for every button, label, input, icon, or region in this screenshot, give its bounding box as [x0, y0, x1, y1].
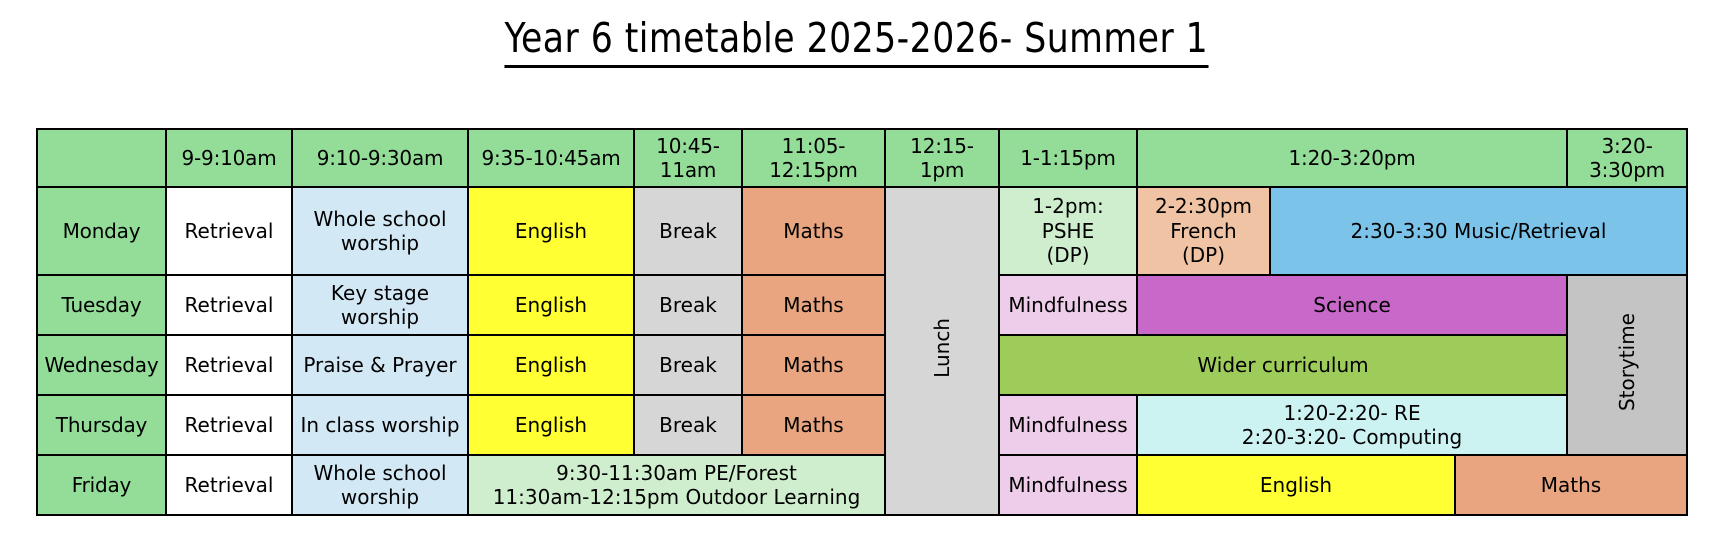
cell-monday-maths: Maths: [742, 187, 885, 275]
table-row-tuesday: Tuesday Retrieval Key stage worship Engl…: [37, 275, 1687, 335]
cell-tuesday-retrieval: Retrieval: [166, 275, 292, 335]
cell-tuesday-mindfulness: Mindfulness: [999, 275, 1137, 335]
cell-wednesday-retrieval: Retrieval: [166, 335, 292, 395]
worship-line-1: Whole school: [313, 207, 446, 231]
cell-tuesday-science: Science: [1137, 275, 1567, 335]
cell-monday-retrieval: Retrieval: [166, 187, 292, 275]
key-stage-worship-line-2: worship: [341, 305, 419, 329]
pe-forest-line: 9:30-11:30am PE/Forest: [556, 461, 797, 485]
re-line: 1:20-2:20- RE: [1283, 401, 1420, 425]
cell-thursday-retrieval: Retrieval: [166, 395, 292, 455]
cell-monday-break: Break: [634, 187, 742, 275]
header-col-1-115pm: 1-1:15pm: [999, 129, 1137, 187]
timetable-container: 9-9:10am 9:10-9:30am 9:35-10:45am 10:45-…: [36, 128, 1678, 516]
cell-lunch: Lunch: [885, 187, 999, 515]
page-title-container: Year 6 timetable 2025-2026- Summer 1: [0, 14, 1712, 68]
cell-wednesday-worship: Praise & Prayer: [292, 335, 468, 395]
pshe-line-1: 1-2pm: PSHE: [1032, 194, 1104, 242]
header-col-1105-1215pm: 11:05-12:15pm: [742, 129, 885, 187]
storytime-label: Storytime: [1615, 313, 1639, 411]
table-row-monday: Monday Retrieval Whole school worship En…: [37, 187, 1687, 275]
header-col-935-1045am: 9:35-10:45am: [468, 129, 634, 187]
cell-thursday-english: English: [468, 395, 634, 455]
friday-worship-line-2: worship: [341, 485, 419, 509]
cell-wednesday-break: Break: [634, 335, 742, 395]
header-col-1215-1pm: 12:15-1pm: [885, 129, 999, 187]
header-col-120-320pm: 1:20-3:20pm: [1137, 129, 1567, 187]
french-line-3: (DP): [1182, 243, 1225, 267]
header-col-1045-11am: 10:45-11am: [634, 129, 742, 187]
cell-friday-english: English: [1137, 455, 1455, 515]
header-col-910-930am: 9:10-9:30am: [292, 129, 468, 187]
header-col-9-910am: 9-9:10am: [166, 129, 292, 187]
header-corner: [37, 129, 166, 187]
cell-thursday-worship: In class worship: [292, 395, 468, 455]
cell-thursday-mindfulness: Mindfulness: [999, 395, 1137, 455]
outdoor-learning-line: 11:30am-12:15pm Outdoor Learning: [493, 485, 861, 509]
cell-wednesday-maths: Maths: [742, 335, 885, 395]
header-col-320-330pm: 3:20-3:30pm: [1567, 129, 1687, 187]
cell-monday-french: 2-2:30pm French (DP): [1137, 187, 1270, 275]
cell-tuesday-worship: Key stage worship: [292, 275, 468, 335]
cell-monday-worship: Whole school worship: [292, 187, 468, 275]
worship-line-2: worship: [341, 231, 419, 255]
timetable-page: Year 6 timetable 2025-2026- Summer 1: [0, 0, 1712, 554]
cell-storytime: Storytime: [1567, 275, 1687, 455]
friday-worship-line-1: Whole school: [313, 461, 446, 485]
cell-friday-pe-forest-outdoor: 9:30-11:30am PE/Forest 11:30am-12:15pm O…: [468, 455, 885, 515]
timetable: 9-9:10am 9:10-9:30am 9:35-10:45am 10:45-…: [36, 128, 1688, 516]
cell-thursday-break: Break: [634, 395, 742, 455]
lunch-label: Lunch: [930, 318, 954, 378]
french-line-2: French: [1170, 219, 1236, 243]
day-label-monday: Monday: [37, 187, 166, 275]
table-row-friday: Friday Retrieval Whole school worship 9:…: [37, 455, 1687, 515]
day-label-thursday: Thursday: [37, 395, 166, 455]
cell-monday-pshe: 1-2pm: PSHE (DP): [999, 187, 1137, 275]
page-title: Year 6 timetable 2025-2026- Summer 1: [504, 14, 1208, 68]
french-line-1: 2-2:30pm: [1155, 194, 1252, 218]
computing-line: 2:20-3:20- Computing: [1242, 425, 1462, 449]
cell-thursday-maths: Maths: [742, 395, 885, 455]
cell-tuesday-maths: Maths: [742, 275, 885, 335]
key-stage-worship-line-1: Key stage: [331, 281, 429, 305]
day-label-wednesday: Wednesday: [37, 335, 166, 395]
table-row-thursday: Thursday Retrieval In class worship Engl…: [37, 395, 1687, 455]
cell-monday-music-retrieval: 2:30-3:30 Music/Retrieval: [1270, 187, 1687, 275]
table-row-wednesday: Wednesday Retrieval Praise & Prayer Engl…: [37, 335, 1687, 395]
day-label-tuesday: Tuesday: [37, 275, 166, 335]
cell-tuesday-break: Break: [634, 275, 742, 335]
cell-tuesday-english: English: [468, 275, 634, 335]
cell-thursday-re-computing: 1:20-2:20- RE 2:20-3:20- Computing: [1137, 395, 1567, 455]
cell-friday-retrieval: Retrieval: [166, 455, 292, 515]
cell-friday-worship: Whole school worship: [292, 455, 468, 515]
cell-wednesday-english: English: [468, 335, 634, 395]
cell-friday-maths: Maths: [1455, 455, 1687, 515]
pshe-line-2: (DP): [1046, 243, 1089, 267]
timetable-body: Monday Retrieval Whole school worship En…: [37, 187, 1687, 515]
cell-monday-english: English: [468, 187, 634, 275]
timetable-header-row: 9-9:10am 9:10-9:30am 9:35-10:45am 10:45-…: [37, 129, 1687, 187]
day-label-friday: Friday: [37, 455, 166, 515]
cell-wednesday-wider-curriculum: Wider curriculum: [999, 335, 1567, 395]
cell-friday-mindfulness: Mindfulness: [999, 455, 1137, 515]
